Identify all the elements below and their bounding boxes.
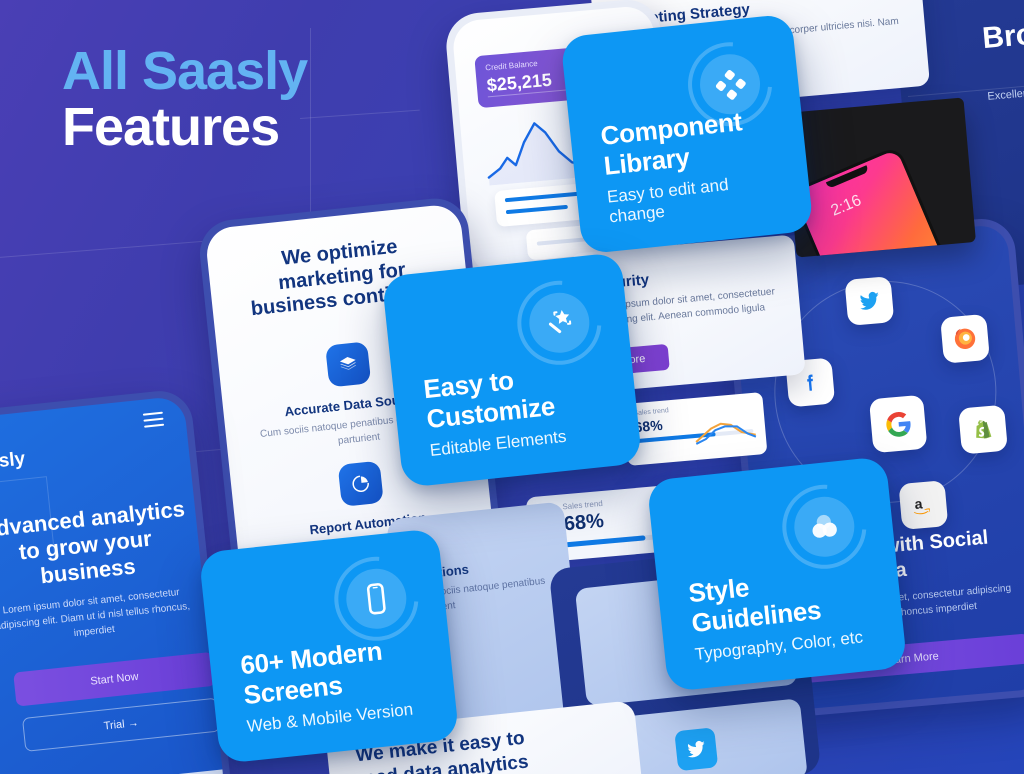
feature-card-subtitle: Easy to edit and change xyxy=(606,169,787,227)
mini-trend-chart xyxy=(692,412,760,446)
decorative-hairline xyxy=(300,110,420,119)
credit-balance-label: Credit Balance xyxy=(485,59,538,73)
feature-card-text: 60+ Modern Screens Web & Mobile Version xyxy=(239,632,433,737)
feature-card-text: Style Guidelines Typography, Color, etc xyxy=(687,560,881,665)
firefox-icon[interactable] xyxy=(940,314,990,364)
saasly-body: Lorem ipsum dolor sit amet, consectetur … xyxy=(0,583,198,649)
mobile-phone-icon xyxy=(330,553,422,645)
phone-photo: 2:16 xyxy=(784,97,976,257)
photo-clock-time: 2:16 xyxy=(829,192,865,221)
saasly-phone-frame: Saasly Advanced analytics to grow your b… xyxy=(0,388,233,774)
twitter-icon xyxy=(674,727,718,771)
placeholder-bar xyxy=(506,205,568,214)
feature-card-style-guidelines[interactable]: Style Guidelines Typography, Color, etc xyxy=(647,456,908,692)
amazon-icon[interactable]: a xyxy=(898,480,948,530)
trial-button[interactable]: Trial → xyxy=(22,698,220,752)
layers-icon xyxy=(325,341,371,387)
twitter-icon[interactable] xyxy=(844,276,894,326)
color-circles-icon xyxy=(778,481,870,573)
sales-trend-label: Sales trend xyxy=(633,407,669,417)
page-title-line2: Features xyxy=(62,99,307,156)
browse-panel-sub: Excellence xyxy=(987,84,1024,105)
feature-card-text: Easy to Customize Editable Elements xyxy=(422,356,616,461)
feature-card-component-library[interactable]: Component Library Easy to edit and chang… xyxy=(560,13,814,254)
start-now-button[interactable]: Start Now xyxy=(13,652,215,707)
svg-text:a: a xyxy=(914,495,923,512)
bottom-sheet: ••• xyxy=(43,767,225,774)
sales-trend-progress-fill xyxy=(565,535,645,547)
page-title-line1: All Saasly xyxy=(62,44,307,99)
feature-card-modern-screens[interactable]: 60+ Modern Screens Web & Mobile Version xyxy=(199,528,460,764)
poster-canvas: Browse Excellence xyxy=(0,0,1024,774)
google-icon[interactable] xyxy=(869,395,928,454)
magic-wand-icon xyxy=(513,277,605,369)
saasly-brand: Saasly xyxy=(0,448,26,476)
browse-panel-heading: Browse xyxy=(981,12,1024,57)
page-title: All Saasly Features xyxy=(62,44,307,156)
feature-card-easy-to-customize[interactable]: Easy to Customize Editable Elements xyxy=(382,252,643,488)
phone-photo-device: 2:16 xyxy=(789,145,964,257)
photo-notch xyxy=(826,165,869,189)
saasly-phone-screen: Saasly Advanced analytics to grow your b… xyxy=(0,395,226,774)
shopify-icon[interactable] xyxy=(958,405,1008,455)
hamburger-menu-icon[interactable] xyxy=(143,412,164,428)
decorative-hairline xyxy=(310,28,311,228)
feature-card-text: Component Library Easy to edit and chang… xyxy=(599,104,787,228)
pie-chart-icon xyxy=(338,461,384,507)
sales-trend-value: 68% xyxy=(563,510,605,536)
sales-trend-widget-small: Sales trend 68% xyxy=(623,392,768,466)
